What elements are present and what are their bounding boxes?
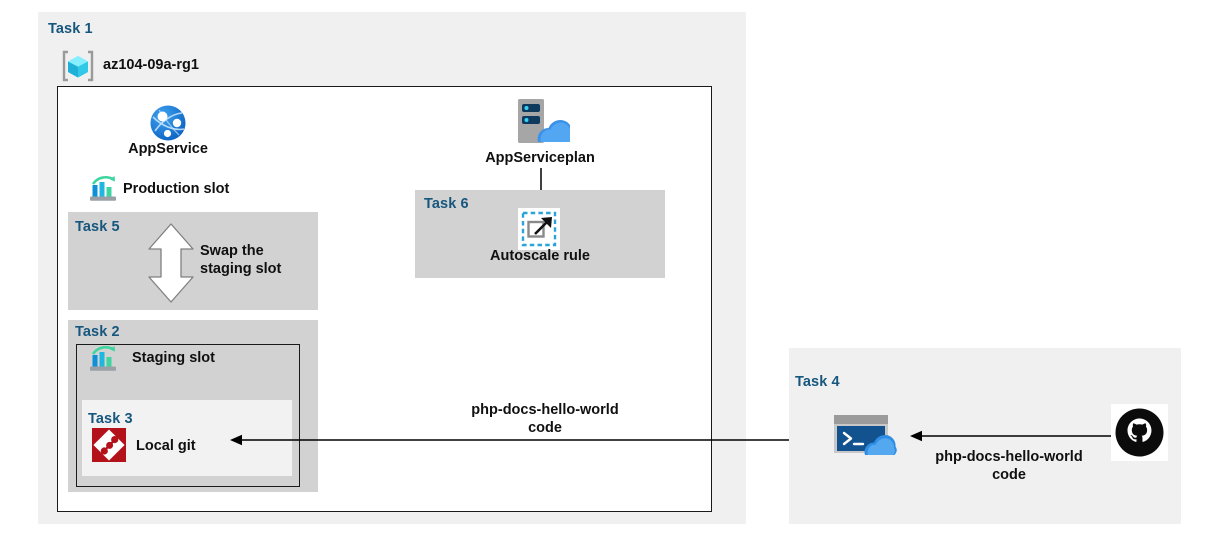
cloud-shell-icon bbox=[832, 412, 900, 458]
appservice-globe-icon bbox=[148, 103, 188, 143]
task2-label: Task 2 bbox=[75, 324, 120, 340]
autoscale-rule-name: Autoscale rule bbox=[460, 248, 620, 265]
autoscale-expand-icon bbox=[518, 208, 560, 250]
edge-github-to-cloudshell bbox=[908, 426, 1114, 446]
task4-label: Task 4 bbox=[795, 374, 840, 390]
appservice-name: AppService bbox=[108, 141, 228, 158]
edge-cloudshell-to-localgit bbox=[228, 430, 828, 450]
diagram-canvas: Task 1 az104-09a-rg1 bbox=[0, 0, 1218, 545]
resource-group-name: az104-09a-rg1 bbox=[103, 57, 199, 74]
resource-group-cube-icon bbox=[60, 49, 96, 83]
task5-label: Task 5 bbox=[75, 219, 120, 235]
swap-double-arrow-icon bbox=[145, 222, 197, 304]
task5-action-label: Swap the staging slot bbox=[200, 242, 312, 278]
task1-label: Task 1 bbox=[48, 21, 93, 37]
github-to-cloudshell-label: php-docs-hello-world code bbox=[908, 448, 1110, 484]
production-slot-name: Production slot bbox=[123, 181, 229, 198]
task6-label: Task 6 bbox=[424, 196, 469, 212]
appserviceplan-server-cloud-icon bbox=[510, 97, 570, 147]
appserviceplan-name: AppServiceplan bbox=[455, 150, 625, 167]
production-slot-icon bbox=[88, 175, 118, 203]
staging-slot-icon bbox=[88, 345, 118, 373]
local-git-name: Local git bbox=[136, 438, 196, 455]
github-octocat-icon bbox=[1111, 404, 1168, 461]
git-icon bbox=[92, 428, 126, 462]
task3-label: Task 3 bbox=[88, 411, 133, 427]
staging-slot-name: Staging slot bbox=[132, 350, 215, 367]
